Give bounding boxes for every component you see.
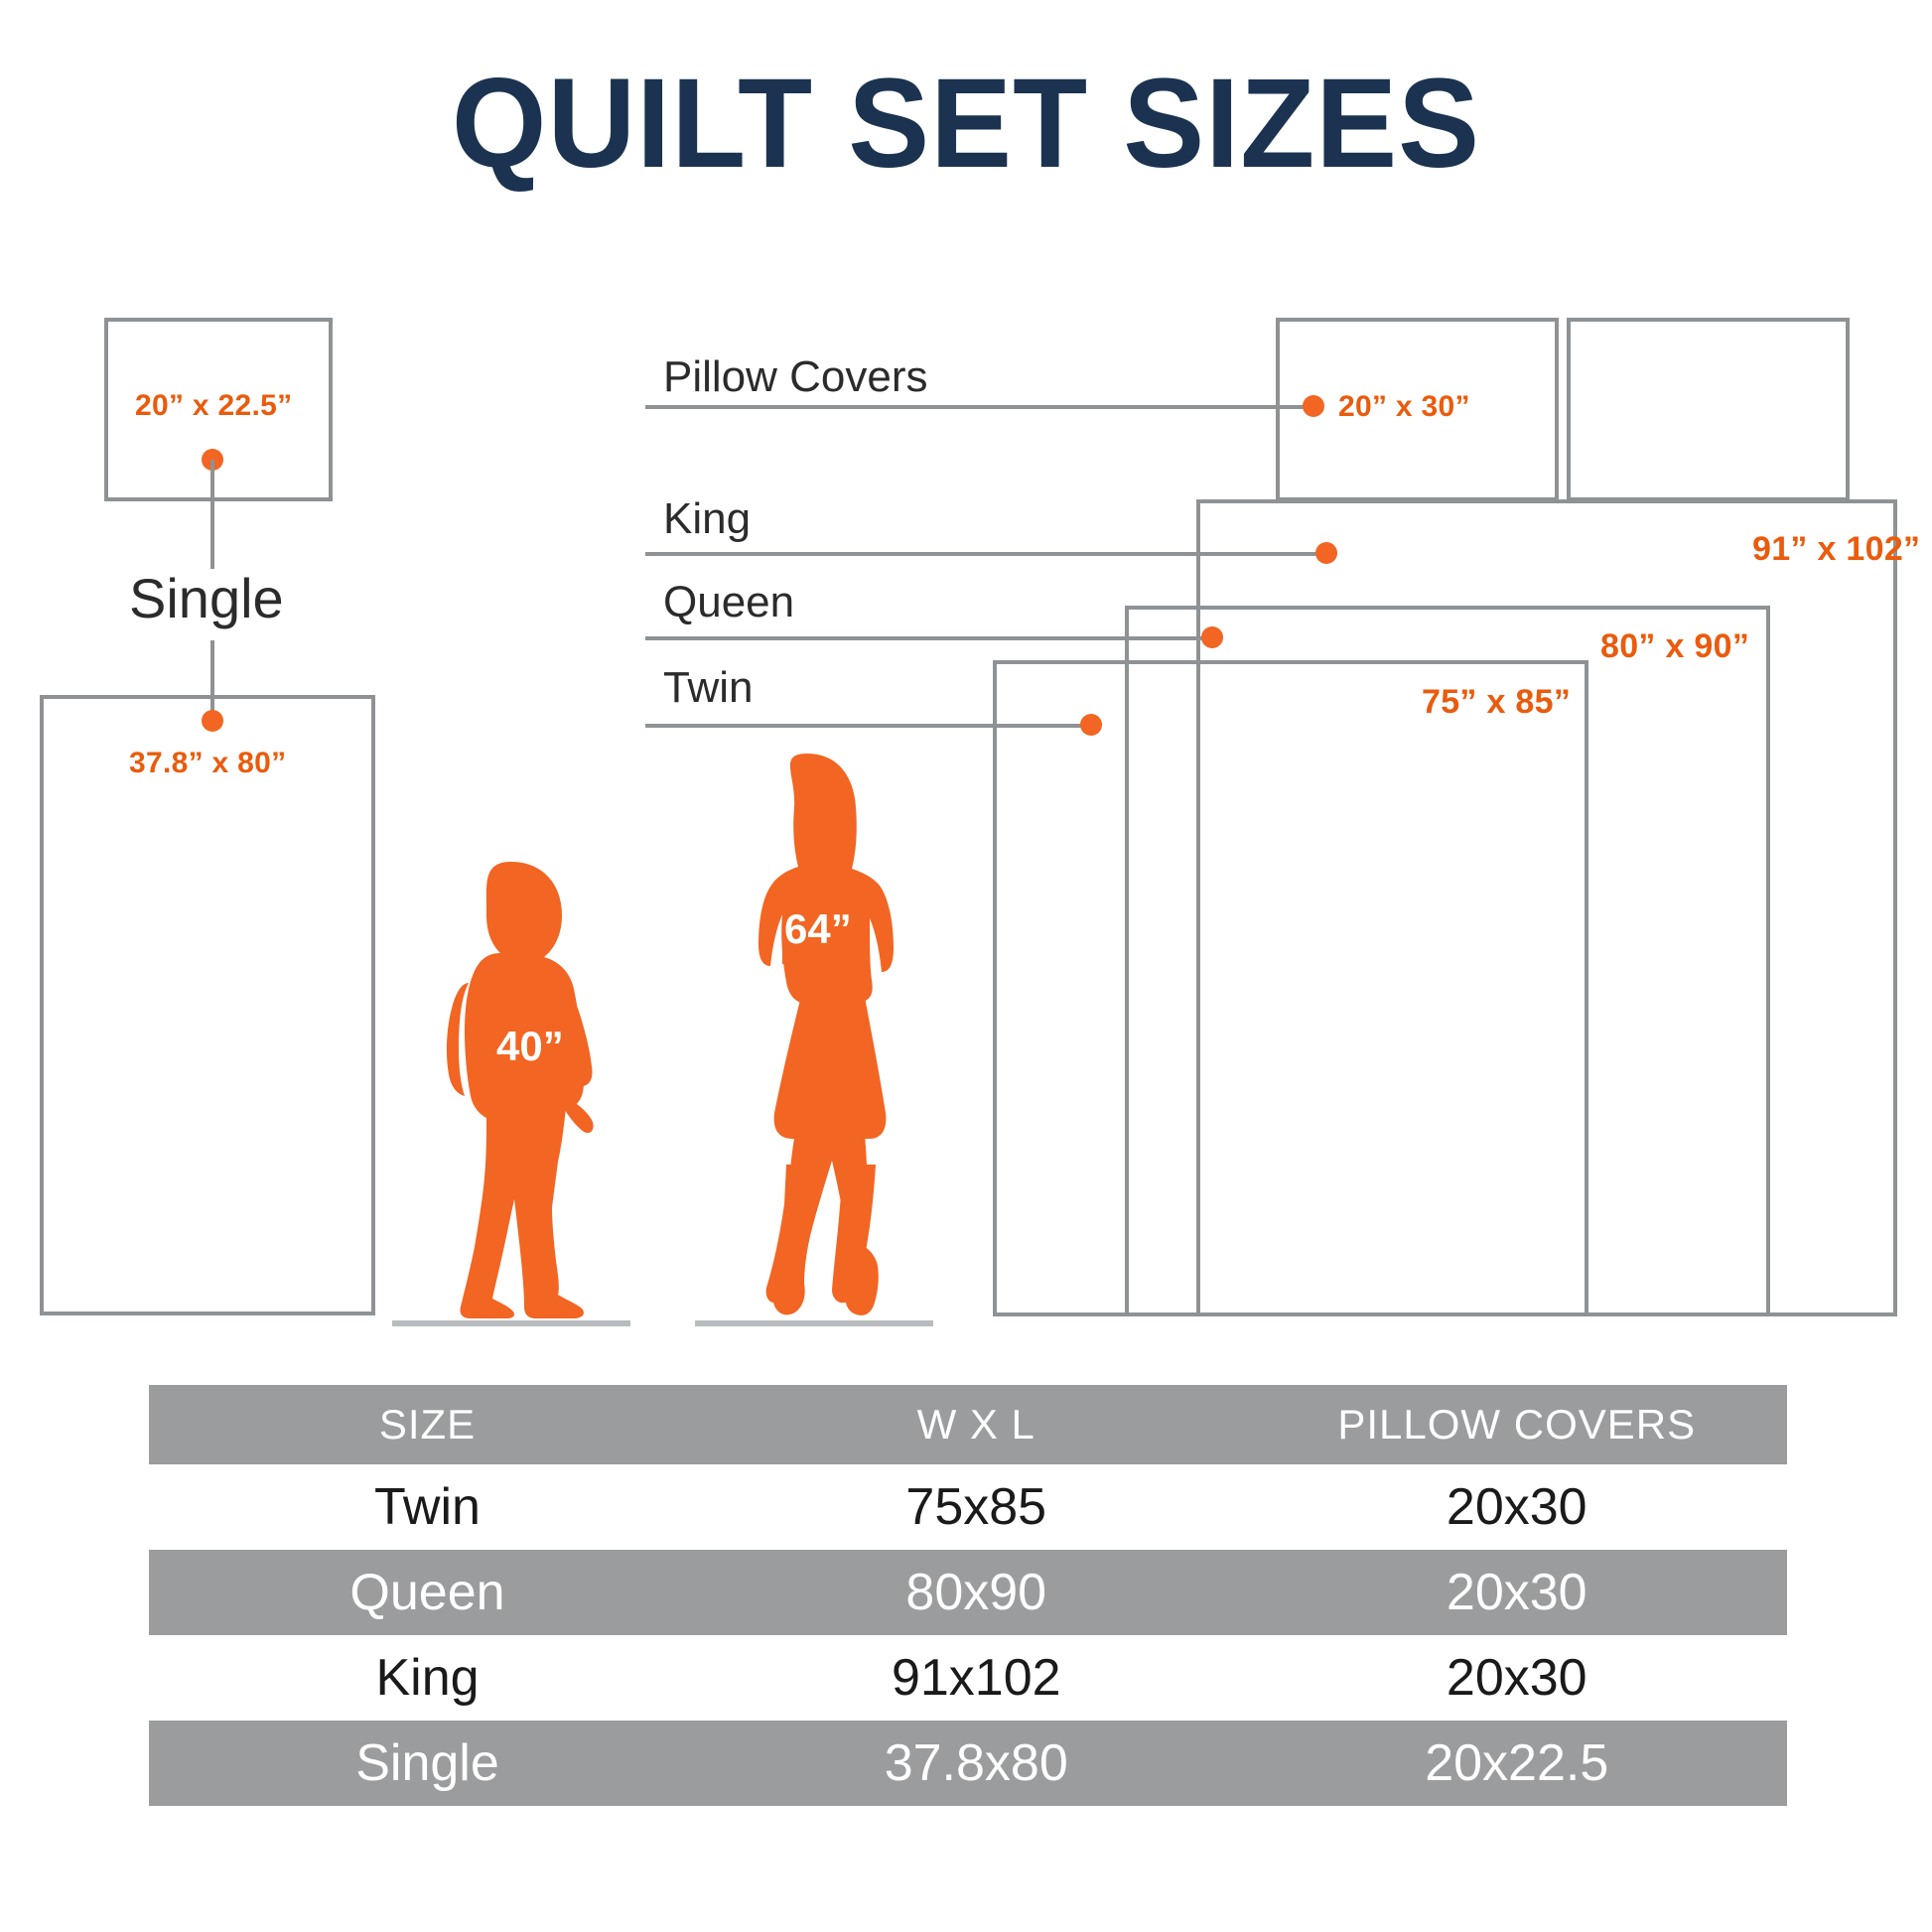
- single-pillow-dim: 20” x 22.5”: [135, 389, 292, 423]
- child-height-label: 40”: [496, 1023, 564, 1070]
- leader-line-king: [645, 552, 1330, 556]
- single-bed-box: [40, 695, 375, 1315]
- pillow-cover-box-right: [1567, 318, 1850, 501]
- table-row: Single 37.8x80 20x22.5: [149, 1721, 1787, 1806]
- cell-wxl: 91x102: [706, 1635, 1247, 1721]
- table-header-pillow: PILLOW COVERS: [1247, 1385, 1788, 1464]
- cell-wxl: 75x85: [706, 1464, 1247, 1550]
- king-dot: [1315, 542, 1337, 564]
- infographic-canvas: QUILT SET SIZES 20” x 22.5” Single 37.8”…: [0, 0, 1932, 1932]
- leader-line-queen: [645, 636, 1211, 640]
- cell-size: Queen: [149, 1550, 706, 1635]
- queen-dim: 80” x 90”: [1600, 627, 1749, 666]
- leader-label-queen: Queen: [663, 578, 794, 627]
- twin-dot: [1080, 714, 1102, 736]
- twin-bed-box: [993, 660, 1588, 1316]
- cell-size: Single: [149, 1721, 706, 1806]
- cell-pillow: 20x30: [1247, 1464, 1788, 1550]
- page-title: QUILT SET SIZES: [39, 58, 1893, 191]
- cell-wxl: 37.8x80: [706, 1721, 1247, 1806]
- leader-label-twin: Twin: [663, 663, 753, 713]
- leader-line-pillow-covers: [645, 405, 1306, 409]
- cell-size: King: [149, 1635, 706, 1721]
- single-name-label: Single: [129, 566, 284, 630]
- table-header-size: SIZE: [149, 1385, 706, 1464]
- table-header-wxl: W X L: [706, 1385, 1247, 1464]
- child-floor-line: [392, 1320, 630, 1326]
- leader-label-pillow-covers: Pillow Covers: [663, 352, 928, 402]
- leader-line-twin: [645, 724, 1097, 728]
- single-bed-dot: [202, 710, 223, 732]
- table-row: Queen 80x90 20x30: [149, 1550, 1787, 1635]
- king-dim: 91” x 102”: [1752, 530, 1920, 569]
- table-row: Twin 75x85 20x30: [149, 1464, 1787, 1550]
- queen-dot: [1201, 626, 1223, 648]
- table-header-row: SIZE W X L PILLOW COVERS: [149, 1385, 1787, 1464]
- single-connector-upper: [210, 460, 214, 569]
- single-bed-dim: 37.8” x 80”: [129, 747, 286, 780]
- woman-floor-line: [695, 1320, 933, 1326]
- cell-size: Twin: [149, 1464, 706, 1550]
- pillow-cover-dot: [1303, 395, 1324, 417]
- woman-figure: [695, 750, 923, 1320]
- leader-label-king: King: [663, 494, 751, 544]
- cell-pillow: 20x30: [1247, 1635, 1788, 1721]
- woman-height-label: 64”: [784, 905, 852, 953]
- cell-pillow: 20x30: [1247, 1550, 1788, 1635]
- pillow-cover-dim: 20” x 30”: [1338, 390, 1470, 424]
- cell-pillow: 20x22.5: [1247, 1721, 1788, 1806]
- table-row: King 91x102 20x30: [149, 1635, 1787, 1721]
- child-figure: [417, 854, 616, 1320]
- size-table: SIZE W X L PILLOW COVERS Twin 75x85 20x3…: [149, 1385, 1787, 1806]
- twin-dim: 75” x 85”: [1422, 683, 1571, 722]
- cell-wxl: 80x90: [706, 1550, 1247, 1635]
